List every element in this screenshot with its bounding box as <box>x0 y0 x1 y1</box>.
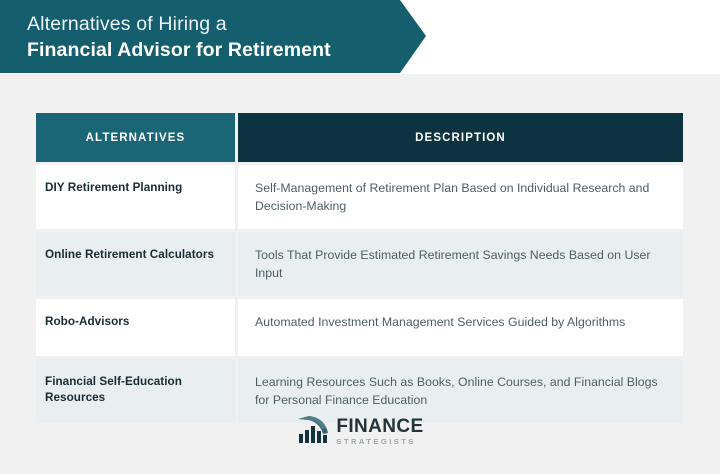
brand-name-primary: FINANCE <box>336 417 423 436</box>
brand-wordmark: FINANCE STRATEGISTS <box>336 417 423 446</box>
header-title-line-2: Financial Advisor for Retirement <box>27 37 426 63</box>
cell-description: Tools That Provide Estimated Retirement … <box>238 232 683 296</box>
table-row: Robo-Advisors Automated Investment Manag… <box>36 299 683 356</box>
infographic-page: Alternatives of Hiring a Financial Advis… <box>0 0 720 474</box>
table-header-row: ALTERNATIVES DESCRIPTION <box>36 113 683 162</box>
cell-alternative: DIY Retirement Planning <box>36 165 238 229</box>
column-header-description: DESCRIPTION <box>238 113 683 162</box>
cell-description: Self-Management of Retirement Plan Based… <box>238 165 683 229</box>
table-row: Online Retirement Calculators Tools That… <box>36 232 683 296</box>
cell-alternative: Robo-Advisors <box>36 299 238 356</box>
header-title-line-1: Alternatives of Hiring a <box>27 11 426 37</box>
brand-logo: FINANCE STRATEGISTS <box>0 411 720 451</box>
cell-description: Automated Investment Management Services… <box>238 299 683 356</box>
header-banner: Alternatives of Hiring a Financial Advis… <box>0 0 426 73</box>
alternatives-table: ALTERNATIVES DESCRIPTION DIY Retirement … <box>36 113 683 423</box>
finance-chart-swoosh-icon <box>296 414 330 449</box>
cell-alternative: Online Retirement Calculators <box>36 232 238 296</box>
brand-name-secondary: STRATEGISTS <box>336 438 423 446</box>
column-header-alternatives: ALTERNATIVES <box>36 113 238 162</box>
table-row: DIY Retirement Planning Self-Management … <box>36 165 683 229</box>
